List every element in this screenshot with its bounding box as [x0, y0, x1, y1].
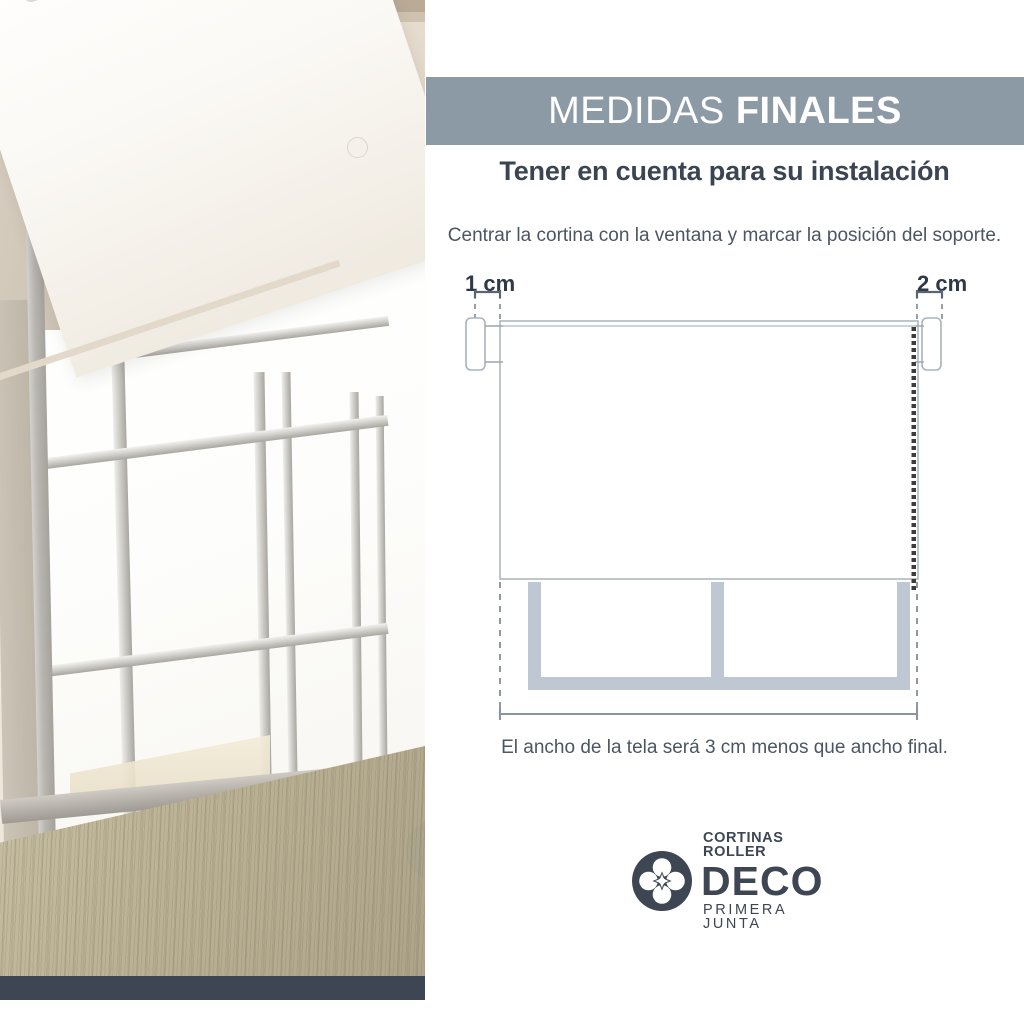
brand-name: DECO: [701, 861, 832, 902]
dimension-tick-right: [917, 290, 942, 298]
brand-tagline-bottom: PRIMERA JUNTA: [703, 903, 832, 932]
product-photo: [0, 0, 425, 1000]
content-panel: MEDIDAS FINALES Tener en cuenta para su …: [425, 0, 1024, 1024]
left-bracket: [466, 318, 503, 370]
deco-flower-icon: [632, 851, 692, 911]
page-title: MEDIDAS FINALES: [426, 77, 1024, 145]
page-subtitle: Tener en cuenta para su instalación: [425, 156, 1024, 187]
right-bracket: [915, 318, 941, 370]
brand-tagline-top: CORTINAS ROLLER: [703, 831, 832, 860]
instruction-lead: Centrar la cortina con la ventana y marc…: [425, 222, 1024, 249]
window-frame: [528, 582, 910, 690]
photo-bottom-bar: [0, 976, 425, 1000]
width-extension-lines: [500, 582, 917, 714]
page-title-bold: FINALES: [736, 90, 902, 133]
installation-diagram: [425, 290, 1024, 730]
instruction-footnote: El ancho de la tela será 3 cm menos que …: [425, 737, 1024, 759]
poster-canvas: MEDIDAS FINALES Tener en cuenta para su …: [0, 0, 1024, 1024]
page-title-thin: MEDIDAS: [548, 90, 736, 133]
width-dimension-line: [500, 708, 917, 720]
brand-wordmark: CORTINAS ROLLER DECO PRIMERA JUNTA: [703, 831, 832, 932]
dimension-tick-left: [475, 290, 500, 298]
title-bar: MEDIDAS FINALES: [426, 77, 1024, 145]
photo-roller-endcap: [347, 137, 368, 158]
brand-logo: CORTINAS ROLLER DECO PRIMERA JUNTA: [632, 845, 832, 917]
blind-fabric: [500, 321, 918, 579]
